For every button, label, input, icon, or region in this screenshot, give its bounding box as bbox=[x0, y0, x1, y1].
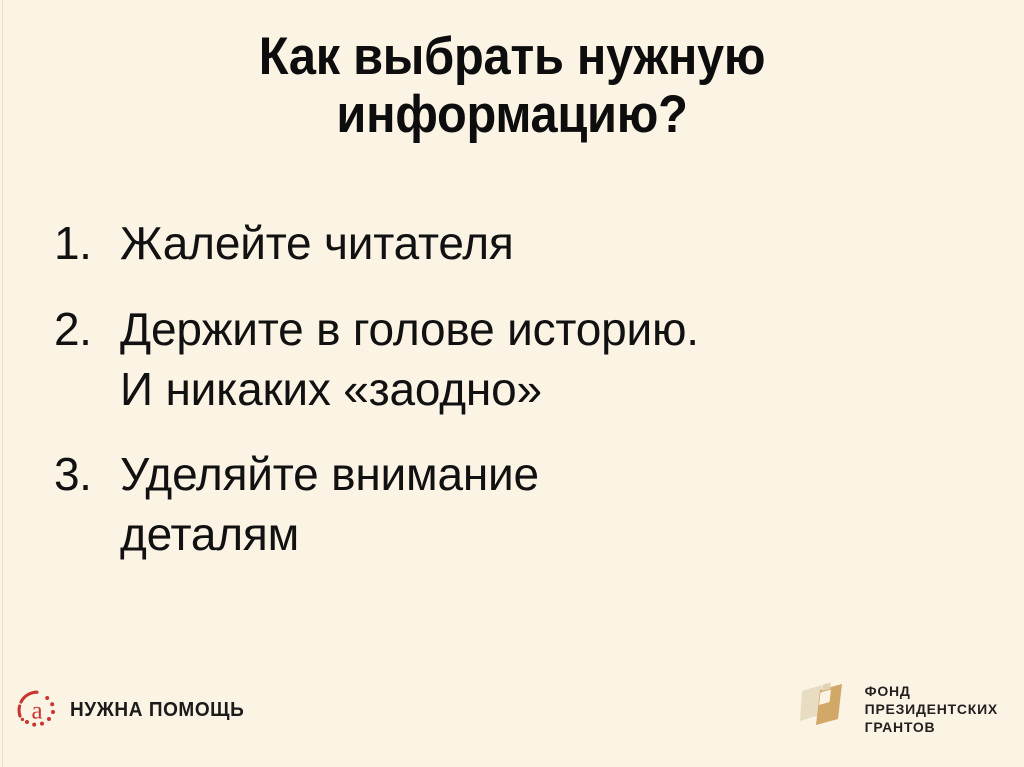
list-item: 1. Жалейте читателя bbox=[54, 214, 954, 274]
fond-grantov-logo: Фонд Президентских Грантов bbox=[798, 681, 998, 737]
list-item-text: Уделяйте внимание деталям bbox=[120, 445, 954, 565]
svg-text:a: a bbox=[31, 698, 42, 725]
list-item-number: 3. bbox=[54, 445, 120, 505]
list-item-number: 1. bbox=[54, 214, 120, 274]
fond-grantov-line-3: Грантов bbox=[865, 718, 998, 736]
fond-grantov-flag-mark-icon bbox=[798, 681, 854, 737]
list-item: 3. Уделяйте внимание деталям bbox=[54, 445, 954, 565]
list-item: 2. Держите в голове историю. И никаких «… bbox=[54, 300, 954, 420]
list-item-text: Держите в голове историю. И никаких «зао… bbox=[120, 300, 954, 420]
presentation-slide: Как выбрать нужную информацию? 1. Жалейт… bbox=[0, 0, 1024, 767]
list-item-text: Жалейте читателя bbox=[120, 214, 954, 274]
fond-grantov-wordmark: Фонд Президентских Грантов bbox=[865, 682, 998, 737]
page-title: Как выбрать нужную информацию? bbox=[96, 28, 928, 144]
numbered-list: 1. Жалейте читателя 2. Держите в голове … bbox=[54, 214, 954, 565]
nuzhna-pomosch-wordmark: Нужна помощь bbox=[70, 699, 244, 722]
footer-logos: a Нужна помощь Фонд bbox=[0, 657, 1024, 767]
fond-grantov-line-2: Президентских bbox=[865, 700, 998, 718]
nuzhna-pomosch-logo: a Нужна помощь bbox=[16, 689, 254, 731]
title-block: Как выбрать нужную информацию? bbox=[0, 28, 1024, 144]
fond-grantov-line-1: Фонд bbox=[865, 682, 998, 700]
nuzhna-pomosch-a-mark-icon: a bbox=[16, 689, 58, 731]
list-item-number: 2. bbox=[54, 300, 120, 360]
